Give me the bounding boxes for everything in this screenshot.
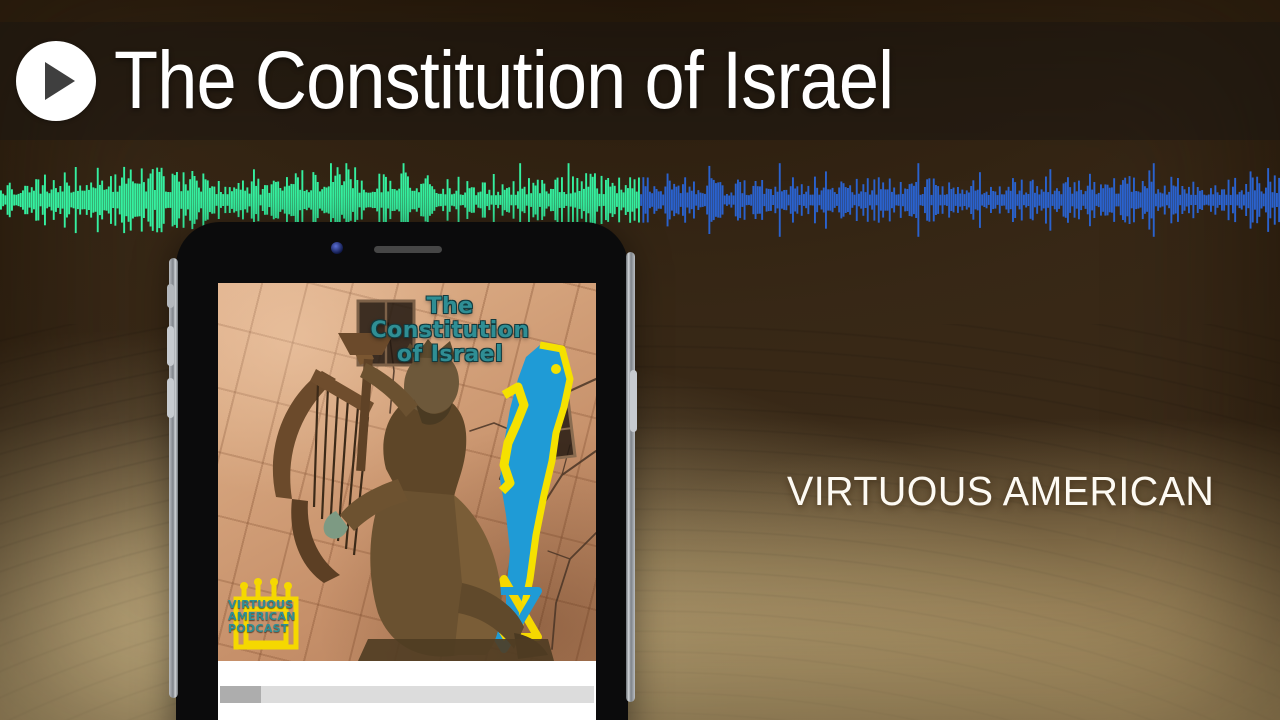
artwork-title-line2: of Israel: [350, 343, 550, 367]
phone-mockup: The Constitution of Israel: [176, 222, 628, 720]
phone-right-edge: [626, 252, 635, 702]
power-button[interactable]: [630, 370, 637, 432]
virtuous-american-podcast-logo: VIRTUOUS AMERICAN PODCAST: [226, 577, 306, 653]
phone-left-edge: [169, 258, 178, 698]
brand-label: VIRTUOUS AMERICAN: [787, 468, 1214, 515]
logo-text: VIRTUOUS AMERICAN PODCAST: [228, 599, 306, 635]
logo-line-3: PODCAST: [228, 623, 306, 635]
phone-screen: The Constitution of Israel: [218, 283, 596, 720]
playback-progress-bar[interactable]: [220, 686, 594, 703]
play-icon[interactable]: [16, 41, 96, 121]
title-row: The Constitution of Israel: [0, 22, 1280, 140]
play-triangle-icon: [45, 62, 75, 100]
front-camera-icon: [331, 242, 343, 254]
volume-up-button[interactable]: [167, 326, 174, 366]
playback-progress-fill: [220, 686, 261, 703]
volume-down-button[interactable]: [167, 378, 174, 418]
page-title: The Constitution of Israel: [114, 39, 893, 123]
player-controls-area: [218, 661, 596, 720]
album-artwork[interactable]: The Constitution of Israel: [218, 283, 596, 661]
artwork-title: The Constitution of Israel: [350, 295, 550, 367]
earpiece-speaker-icon: [374, 246, 442, 253]
silent-switch-button[interactable]: [167, 284, 174, 308]
video-frame: The Constitution of Israel: [0, 0, 1280, 720]
artwork-title-line1: The Constitution: [350, 295, 550, 343]
